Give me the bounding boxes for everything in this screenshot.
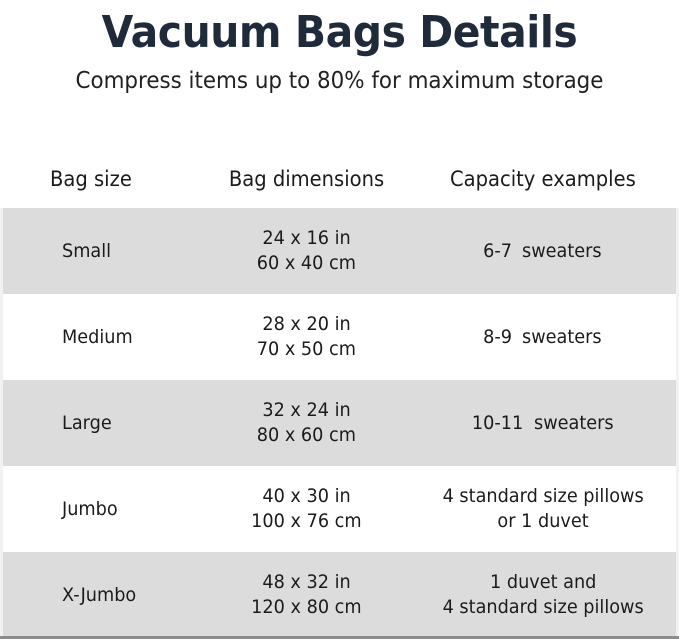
page-subtitle: Compress items up to 80% for maximum sto… — [24, 66, 655, 96]
header-block: Vacuum Bags Details Compress items up to… — [0, 0, 679, 96]
cell-bag-size: Small — [0, 208, 206, 294]
cell-bag-dimensions: 32 x 24 in 80 x 60 cm — [206, 380, 407, 466]
capacity-line-2: or 1 duvet — [497, 509, 588, 534]
cell-capacity-examples: 10-11 sweaters — [407, 380, 679, 466]
page-title: Vacuum Bags Details — [24, 6, 655, 60]
capacity-line-1: 10-11 — [471, 411, 522, 436]
dimension-centimeters: 70 x 50 cm — [257, 337, 356, 362]
bag-specs-table: Bag size Bag dimensions Capacity example… — [0, 150, 679, 638]
vacuum-bags-details-infographic: Vacuum Bags Details Compress items up to… — [0, 0, 679, 639]
table-row: Large 32 x 24 in 80 x 60 cm 10-11 sweate… — [0, 380, 679, 466]
capacity-line-1: 6-7 — [483, 239, 512, 264]
table-row: X-Jumbo 48 x 32 in 120 x 80 cm 1 duvet a… — [0, 552, 679, 638]
capacity-line-2: sweaters — [534, 411, 614, 436]
table-header-row: Bag size Bag dimensions Capacity example… — [0, 150, 679, 208]
bag-size-value: Large — [62, 411, 112, 436]
dimension-centimeters: 100 x 76 cm — [251, 509, 361, 534]
cell-bag-size: Jumbo — [0, 466, 206, 552]
table-row: Small 24 x 16 in 60 x 40 cm 6-7 sweaters — [0, 208, 679, 294]
capacity-line-2: sweaters — [522, 325, 602, 350]
bag-size-value: Medium — [62, 325, 133, 350]
cell-capacity-examples: 8-9 sweaters — [407, 294, 679, 380]
capacity-line-1: 1 duvet and — [490, 570, 596, 595]
capacity-line-1: 4 standard size pillows — [442, 484, 643, 509]
dimension-centimeters: 80 x 60 cm — [257, 423, 356, 448]
column-header-bag-dimensions: Bag dimensions — [206, 150, 407, 208]
dimension-inches: 32 x 24 in — [262, 398, 350, 423]
dimension-inches: 28 x 20 in — [262, 312, 350, 337]
cell-bag-size: Large — [0, 380, 206, 466]
cell-bag-size: X-Jumbo — [0, 552, 206, 638]
column-header-bag-dimensions-label: Bag dimensions — [229, 165, 384, 193]
cell-bag-dimensions: 28 x 20 in 70 x 50 cm — [206, 294, 407, 380]
dimension-inches: 48 x 32 in — [262, 570, 350, 595]
table-row: Medium 28 x 20 in 70 x 50 cm 8-9 sweater… — [0, 294, 679, 380]
cell-bag-size: Medium — [0, 294, 206, 380]
bag-size-value: Jumbo — [62, 497, 118, 522]
cell-capacity-examples: 4 standard size pillows or 1 duvet — [407, 466, 679, 552]
column-header-capacity-examples-label: Capacity examples — [450, 165, 636, 193]
capacity-line-1: 8-9 — [483, 325, 512, 350]
cell-capacity-examples: 6-7 sweaters — [407, 208, 679, 294]
capacity-line-2: 4 standard size pillows — [442, 595, 643, 620]
bag-size-value: Small — [62, 239, 111, 264]
column-header-bag-size-label: Bag size — [50, 165, 132, 193]
capacity-line-2: sweaters — [522, 239, 602, 264]
column-header-bag-size: Bag size — [0, 150, 206, 208]
table-row: Jumbo 40 x 30 in 100 x 76 cm 4 standard … — [0, 466, 679, 552]
bag-size-value: X-Jumbo — [62, 583, 136, 608]
column-header-capacity-examples: Capacity examples — [407, 150, 679, 208]
dimension-centimeters: 60 x 40 cm — [257, 251, 356, 276]
table-body: Small 24 x 16 in 60 x 40 cm 6-7 sweaters… — [0, 208, 679, 638]
cell-bag-dimensions: 24 x 16 in 60 x 40 cm — [206, 208, 407, 294]
cell-bag-dimensions: 40 x 30 in 100 x 76 cm — [206, 466, 407, 552]
dimension-centimeters: 120 x 80 cm — [251, 595, 361, 620]
dimension-inches: 24 x 16 in — [262, 226, 350, 251]
table-header: Bag size Bag dimensions Capacity example… — [0, 150, 679, 208]
dimension-inches: 40 x 30 in — [262, 484, 350, 509]
cell-capacity-examples: 1 duvet and 4 standard size pillows — [407, 552, 679, 638]
cell-bag-dimensions: 48 x 32 in 120 x 80 cm — [206, 552, 407, 638]
